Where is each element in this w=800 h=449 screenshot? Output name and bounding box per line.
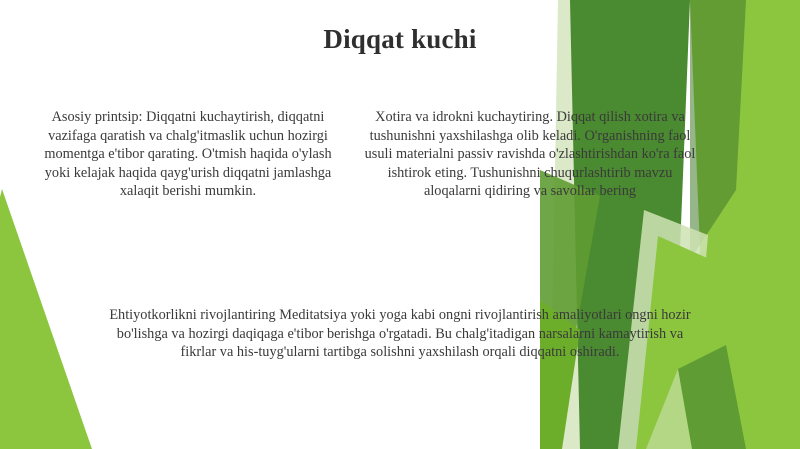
right-text-block: Xotira va idrokni kuchaytiring. Diqqat q… <box>364 108 696 201</box>
angular-green-shapes-right-icon <box>540 0 800 449</box>
page-title: Diqqat kuchi <box>0 24 800 55</box>
presentation-slide: Diqqat kuchi Asosiy printsip: Diqqatni k… <box>0 0 800 449</box>
left-text-block: Asosiy printsip: Diqqatni kuchaytirish, … <box>30 108 346 201</box>
bottom-text-block: Ehtiyotkorlikni rivojlantiring Meditatsi… <box>100 306 700 362</box>
